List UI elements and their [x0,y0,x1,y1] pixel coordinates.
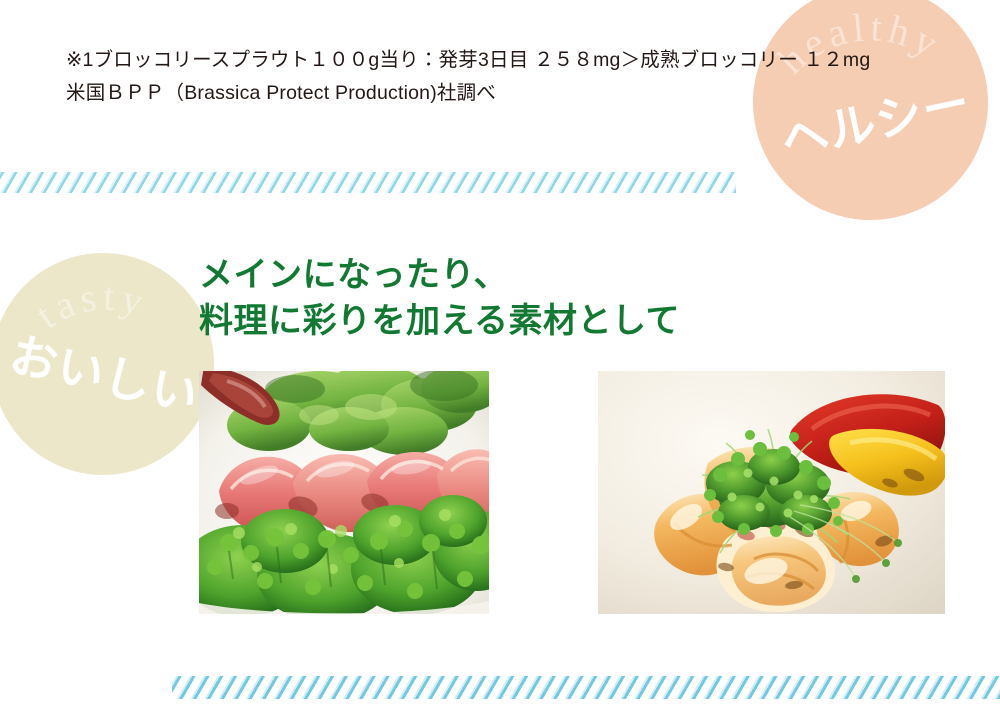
headline-line-2: 料理に彩りを加える素材として [199,298,680,344]
photo-prosciutto-sprout-salad [199,371,489,614]
badge-healthy: healthy ヘルシー [753,0,988,220]
divider-stripes-top [0,172,736,193]
photo-grilled-shrimp-sprout [598,371,945,614]
prosciutto-sprout-salad-image [199,371,489,614]
promo-page: tasty おいしい healthy ヘルシー ※1ブロッコリースプラウト１００… [0,0,1000,727]
divider-stripes-bottom [172,676,1000,699]
badge-tasty: tasty おいしい [0,253,214,475]
headline-line-1: メインになったり、 [199,252,680,298]
footnote-text: ※1ブロッコリースプラウト１００g当り：発芽3日目 ２５８mg＞成熟ブロッコリー… [66,44,896,110]
grilled-shrimp-sprout-image [598,371,945,614]
footnote-line-2: 米国ＢＰＰ（Brassica Protect Production)社調べ [66,77,896,110]
footnote-line-1: ※1ブロッコリースプラウト１００g当り：発芽3日目 ２５８mg＞成熟ブロッコリー… [66,44,896,77]
page-headline: メインになったり、 料理に彩りを加える素材として [199,252,680,344]
